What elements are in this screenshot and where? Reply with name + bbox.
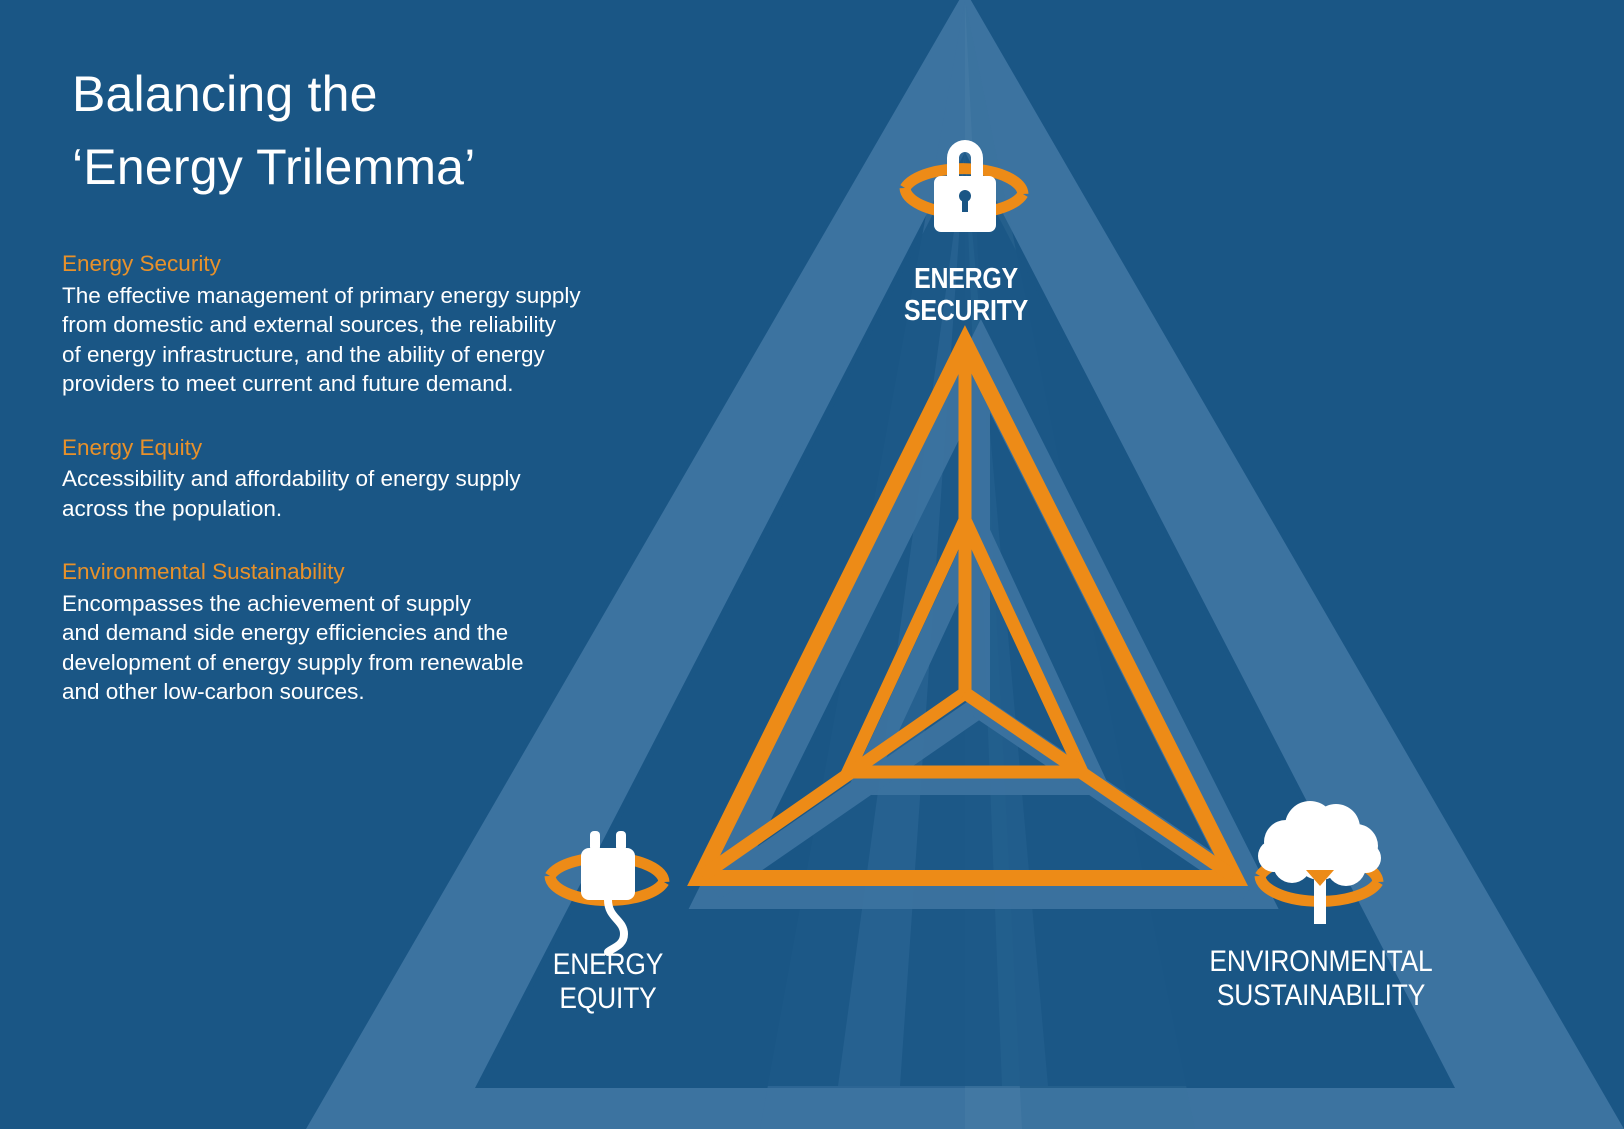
tree-notch bbox=[1306, 870, 1334, 886]
padlock-body bbox=[934, 176, 996, 232]
plug-prong-left bbox=[590, 831, 600, 851]
section-energy-security: Energy Security The effective management… bbox=[62, 249, 662, 399]
section-heading-environmental-sustainability: Environmental Sustainability bbox=[62, 557, 662, 587]
tree-trunk bbox=[1298, 856, 1342, 924]
section-body-environmental-sustainability: Encompasses the achievement of supply an… bbox=[62, 589, 662, 707]
vertex-label-energy-security: ENERGY SECURITY bbox=[862, 263, 1070, 327]
padlock-shackle bbox=[947, 140, 983, 176]
triangle-orange-layer bbox=[700, 343, 1235, 878]
page-title: Balancing the ‘Energy Trilemma’ bbox=[72, 58, 662, 203]
plug-body bbox=[581, 848, 635, 900]
section-body-energy-security: The effective management of primary ener… bbox=[62, 281, 662, 399]
vertex-label-environmental-sustainability: ENVIRONMENTAL SUSTAINABILITY bbox=[1171, 945, 1472, 1012]
plug-prong-right bbox=[616, 831, 626, 851]
vertex-label-energy-equity: ENERGY EQUITY bbox=[502, 948, 715, 1015]
background-highlight-narrow bbox=[965, 0, 1022, 1129]
section-energy-equity: Energy Equity Accessibility and affordab… bbox=[62, 433, 662, 524]
padlock-icon-group bbox=[905, 140, 1023, 232]
inner-orange-triangle bbox=[848, 520, 1082, 772]
tree-icon-group bbox=[1258, 801, 1381, 924]
background-highlight-right bbox=[965, 0, 1195, 1129]
infographic-canvas: Balancing the ‘Energy Trilemma’ Energy S… bbox=[0, 0, 1624, 1129]
plug-cable bbox=[608, 900, 624, 952]
orange-spokes bbox=[702, 343, 1233, 876]
triangle-shadow-layer bbox=[714, 355, 1251, 892]
power-plug-icon-group bbox=[550, 831, 664, 952]
outer-orange-triangle bbox=[700, 343, 1235, 878]
section-heading-energy-security: Energy Security bbox=[62, 249, 662, 279]
background-highlight-left bbox=[760, 0, 965, 1129]
orange-ring-security bbox=[905, 169, 1023, 214]
text-column: Balancing the ‘Energy Trilemma’ Energy S… bbox=[62, 58, 662, 707]
tree-canopy bbox=[1258, 801, 1381, 886]
section-environmental-sustainability: Environmental Sustainability Encompasses… bbox=[62, 557, 662, 707]
padlock-keyhole bbox=[959, 190, 971, 202]
orange-ring-sustainability bbox=[1260, 857, 1378, 902]
section-heading-energy-equity: Energy Equity bbox=[62, 433, 662, 463]
section-body-energy-equity: Accessibility and affordability of energ… bbox=[62, 464, 662, 523]
spoke-to-sustainability bbox=[965, 693, 1233, 876]
orange-ring-equity bbox=[550, 857, 664, 900]
spoke-to-equity bbox=[702, 693, 965, 876]
